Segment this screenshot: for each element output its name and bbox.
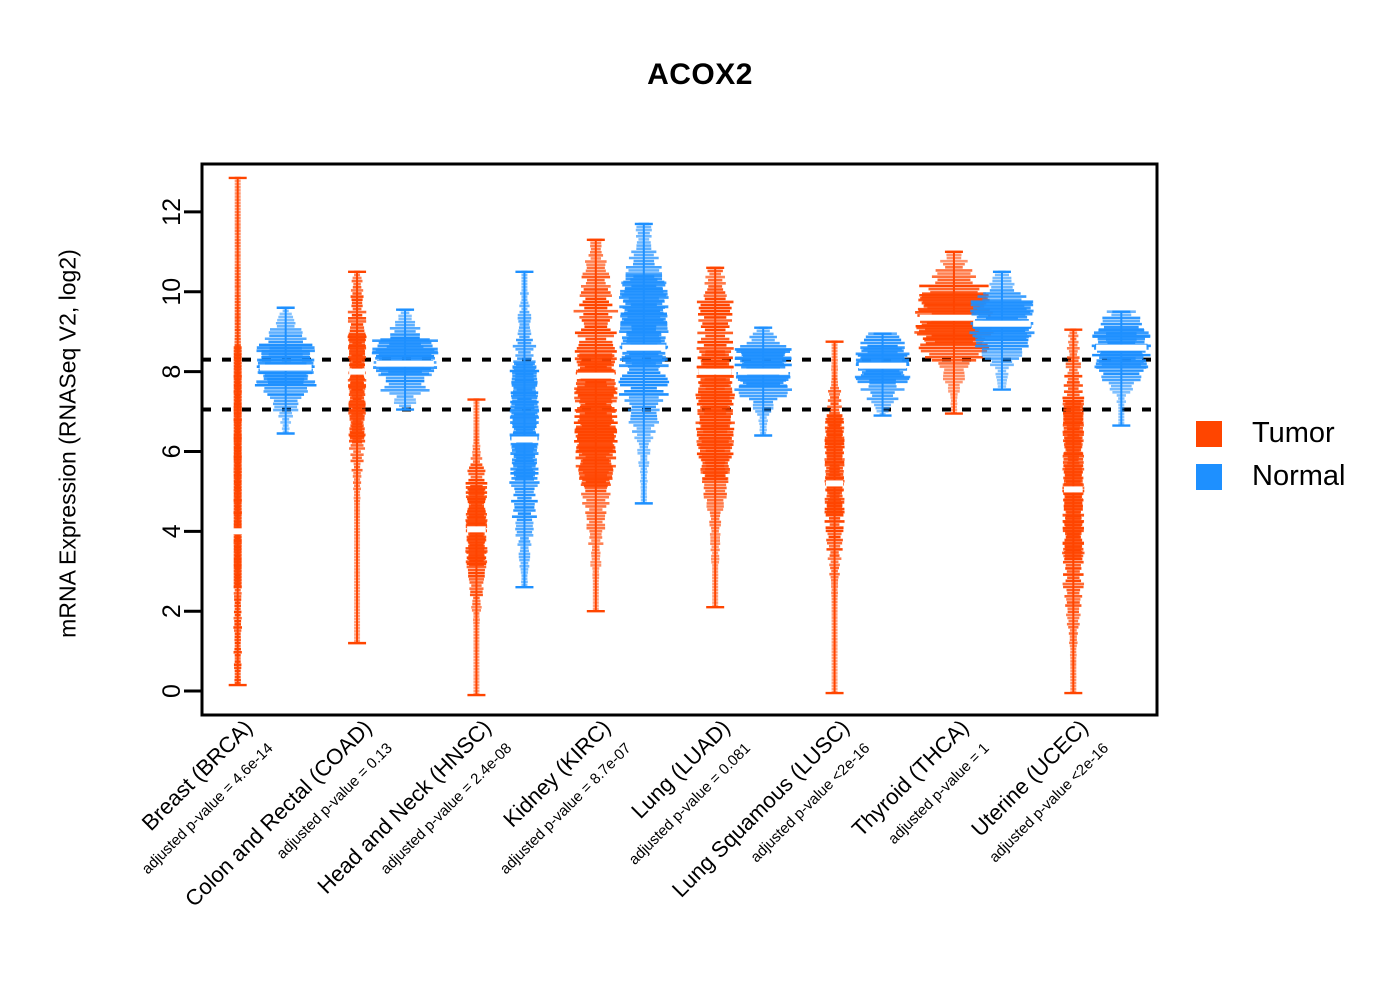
series-normal [255, 308, 317, 434]
median-marker [467, 526, 486, 532]
median-marker [349, 369, 365, 375]
series-normal [619, 224, 670, 503]
legend: Tumor Normal [1196, 412, 1345, 498]
median-marker [622, 345, 665, 351]
median-marker [260, 365, 312, 371]
series-tumor [348, 272, 367, 643]
legend-label-tumor: Tumor [1252, 419, 1335, 448]
series-normal [734, 328, 792, 436]
series-tumor [229, 178, 247, 685]
legend-swatch-normal [1196, 464, 1222, 490]
series-normal [509, 272, 539, 587]
series-tumor [824, 342, 844, 693]
chart-canvas: ACOX2 mRNA Expression (RNASeq V2, log2) … [0, 0, 1400, 1000]
y-tick-label: 4 [158, 524, 186, 538]
median-marker [973, 321, 1031, 327]
series-normal [855, 334, 910, 416]
y-tick-label: 8 [158, 365, 186, 379]
plot-frame [202, 164, 1157, 715]
median-marker [859, 363, 907, 369]
y-tick-label: 12 [158, 198, 186, 226]
series-tumor [696, 268, 735, 607]
y-tick-label: 0 [158, 684, 186, 698]
series-tumor [1062, 330, 1084, 693]
legend-item-normal: Normal [1196, 455, 1345, 498]
median-marker [233, 528, 243, 534]
median-marker [826, 480, 843, 486]
legend-label-normal: Normal [1252, 462, 1345, 491]
median-marker [376, 361, 434, 367]
median-marker [577, 373, 614, 379]
median-marker [1096, 345, 1146, 351]
series-tumor [574, 240, 618, 611]
median-marker [1064, 486, 1083, 492]
series-normal [372, 310, 438, 410]
y-tick-label: 10 [158, 278, 186, 306]
y-tick-label: 2 [158, 604, 186, 618]
median-marker [699, 369, 732, 375]
median-marker [511, 437, 537, 443]
series-tumor [465, 400, 487, 695]
plot-area: 024681012Breast (BRCA)adjusted p-value =… [0, 0, 1400, 1000]
legend-swatch-tumor [1196, 421, 1222, 447]
y-tick-label: 6 [158, 445, 186, 459]
median-marker [738, 369, 788, 375]
legend-item-tumor: Tumor [1196, 412, 1345, 455]
